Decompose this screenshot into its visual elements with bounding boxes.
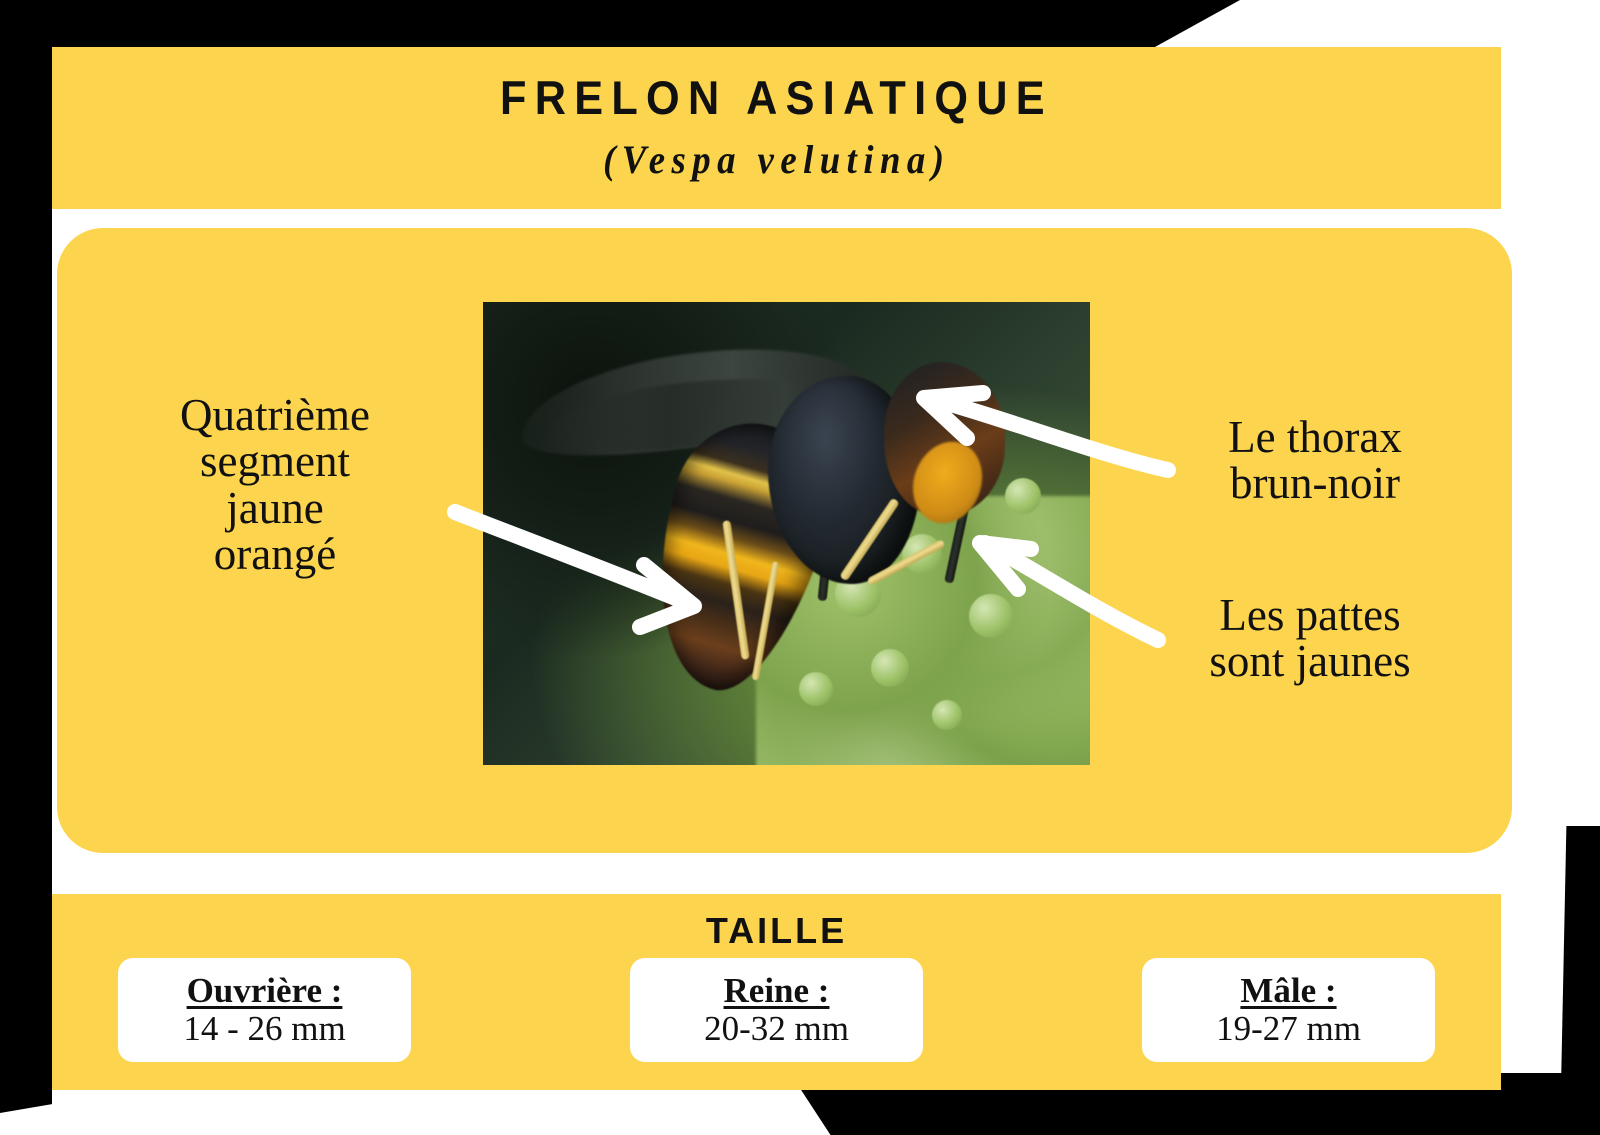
- annotation-label-pattes: Les pattes sont jaunes: [1140, 592, 1480, 685]
- annotation-line: Quatrième: [110, 392, 440, 438]
- size-card-label: Reine :: [724, 971, 830, 1010]
- size-section-title: TAILLE: [52, 910, 1501, 952]
- size-card-value: 20-32 mm: [704, 1010, 849, 1049]
- annotation-line: Les pattes: [1140, 592, 1480, 638]
- annotation-line: segment: [110, 438, 440, 484]
- bud-dot: [1005, 478, 1041, 514]
- size-card-label: Mâle :: [1240, 971, 1336, 1010]
- annotation-label-segment: Quatrième segment jaune orangé: [110, 392, 440, 577]
- decor-black-bar-left: [0, 0, 52, 1113]
- size-card-label: Ouvrière :: [187, 971, 343, 1010]
- header-band: FRELON ASIATIQUE (Vespa velutina): [52, 47, 1501, 209]
- page-subtitle-scientific-name: (Vespa velutina): [603, 136, 950, 183]
- size-card-male: Mâle : 19-27 mm: [1142, 958, 1435, 1062]
- decor-black-bar-top: [0, 0, 1240, 48]
- annotation-line: orangé: [110, 531, 440, 577]
- bud-dot: [799, 672, 833, 706]
- poster-root: FRELON ASIATIQUE (Vespa velutina): [0, 0, 1600, 1135]
- hornet-photo: [483, 302, 1090, 765]
- size-section: TAILLE Ouvrière : 14 - 26 mm Reine : 20-…: [52, 894, 1501, 1090]
- annotation-line: sont jaunes: [1140, 638, 1480, 684]
- bud-dot: [969, 594, 1013, 638]
- annotation-label-thorax: Le thorax brun-noir: [1150, 414, 1480, 507]
- size-card-reine: Reine : 20-32 mm: [630, 958, 923, 1062]
- annotation-line: jaune: [110, 485, 440, 531]
- annotation-line: Le thorax: [1150, 414, 1480, 460]
- size-card-value: 19-27 mm: [1216, 1010, 1361, 1049]
- annotation-line: brun-noir: [1150, 460, 1480, 506]
- size-card-list: Ouvrière : 14 - 26 mm Reine : 20-32 mm M…: [52, 958, 1501, 1062]
- size-card-ouvriere: Ouvrière : 14 - 26 mm: [118, 958, 411, 1062]
- page-title: FRELON ASIATIQUE: [500, 73, 1053, 122]
- size-card-value: 14 - 26 mm: [183, 1010, 345, 1049]
